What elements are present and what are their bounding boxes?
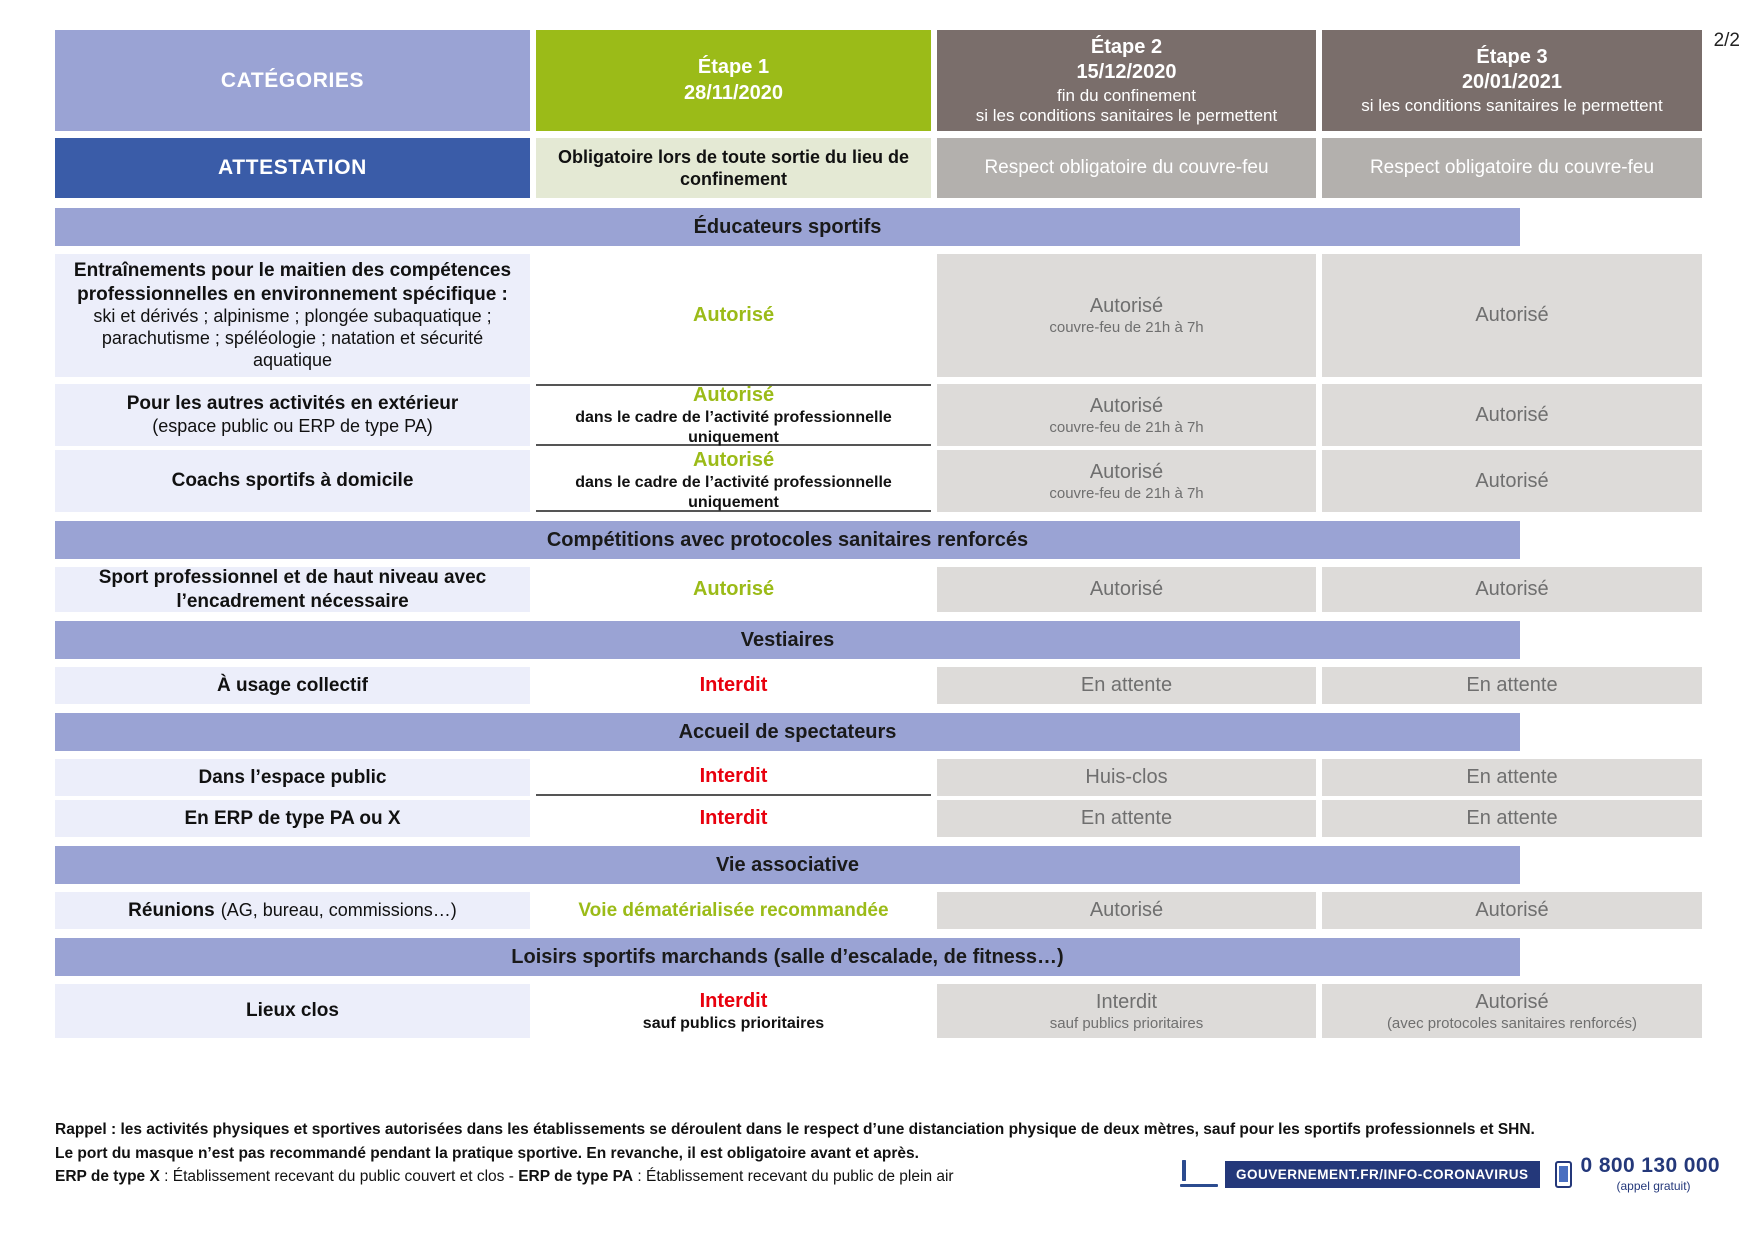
attestation-step-1: Obligatoire lors de toute sortie du lieu… (536, 138, 931, 198)
gov-website-link[interactable]: GOUVERNEMENT.FR/INFO-CORONAVIRUS (1225, 1161, 1540, 1188)
cell-step1-value: Autorisé (693, 303, 774, 328)
cell-step2: Interdit sauf publics prioritaires (937, 984, 1316, 1038)
row-label: Lieux clos (55, 984, 530, 1038)
laptop-icon (1182, 1162, 1216, 1187)
section-title-vestiaires: Vestiaires (55, 621, 1520, 659)
table-row: Dans l’espace public Interdit Huis-clos … (55, 759, 1520, 796)
step1-name: Étape 1 (698, 55, 769, 81)
row-label-norm: (AG, bureau, commissions…) (221, 900, 457, 922)
cell-step3-value: En attente (1466, 765, 1557, 790)
row-label: Sport professionnel et de haut niveau av… (55, 567, 530, 612)
cell-step3-value: Autorisé (1475, 990, 1548, 1015)
attestation-row: ATTESTATION Obligatoire lors de toute so… (55, 138, 1520, 198)
cell-step2-value: En attente (1081, 673, 1172, 698)
step3-note1: si les conditions sanitaires le permette… (1361, 96, 1662, 116)
row-label-bold: Réunions (128, 899, 215, 922)
hotline: 0 800 130 000 (appel gratuit) (1581, 1155, 1721, 1193)
row-label: Entraînements pour le maitien des compét… (55, 254, 530, 377)
cell-step2-sub: couvre-feu de 21h à 7h (1049, 319, 1203, 337)
header-categories: CATÉGORIES (55, 30, 530, 131)
cell-step1: Autorisé (536, 567, 931, 612)
cell-step3: En attente (1322, 667, 1702, 704)
row-label: Pour les autres activités en extérieur (… (55, 384, 530, 446)
cell-step3-value: Autorisé (1475, 469, 1548, 494)
cell-step1-sub: sauf publics prioritaires (643, 1014, 824, 1034)
cell-step3: Autorisé (1322, 254, 1702, 377)
cell-step2-value: Huis-clos (1085, 765, 1167, 790)
smartphone-icon (1555, 1161, 1572, 1188)
cell-step1-value: Interdit (700, 806, 768, 831)
row-label-bold: Dans l’espace public (199, 766, 387, 789)
cell-step1-value: Interdit (700, 989, 768, 1014)
rules-table: CATÉGORIES Étape 1 28/11/2020 Étape 2 15… (55, 30, 1520, 1038)
cell-step1-sub: dans le cadre de l’activité professionne… (542, 473, 925, 512)
cell-step3-value: Autorisé (1475, 303, 1548, 328)
row-label-bold: Lieux clos (246, 999, 339, 1022)
cell-step1-value: Autorisé (693, 577, 774, 602)
footer-erp-x-term: ERP de type X (55, 1168, 160, 1185)
table-row: À usage collectif Interdit En attente En… (55, 667, 1520, 704)
cell-step1: Interdit (536, 800, 931, 837)
footer-erp-x-def: : Établissement recevant du public couve… (160, 1168, 518, 1185)
header-step-2: Étape 2 15/12/2020 fin du confinement si… (937, 30, 1316, 131)
step2-note1: fin du confinement (1057, 86, 1196, 106)
cell-step2: En attente (937, 667, 1316, 704)
table-row: Lieux clos Interdit sauf publics priorit… (55, 984, 1520, 1038)
cell-step1-value: Interdit (700, 673, 768, 698)
cell-step2-sub: couvre-feu de 21h à 7h (1049, 485, 1203, 503)
step1-date: 28/11/2020 (684, 81, 783, 107)
hotline-note: (appel gratuit) (1617, 1179, 1691, 1193)
cell-step1: Autorisé dans le cadre de l’activité pro… (536, 384, 931, 446)
hotline-number: 0 800 130 000 (1581, 1155, 1721, 1176)
cell-step2: Autorisé couvre-feu de 21h à 7h (937, 384, 1316, 446)
cell-step2-sub: sauf publics prioritaires (1050, 1015, 1203, 1033)
table-row: Coachs sportifs à domicile Autorisé dans… (55, 450, 1520, 512)
section-title-vie-associative: Vie associative (55, 846, 1520, 884)
infographic-page: 2/2 CATÉGORIES Étape 1 28/11/2020 Étape … (0, 0, 1754, 1240)
row-label-bold: En ERP de type PA ou X (184, 807, 400, 830)
cell-step3-value: En attente (1466, 806, 1557, 831)
cell-step1-sub: dans le cadre de l’activité professionne… (542, 408, 925, 447)
header-step-1: Étape 1 28/11/2020 (536, 30, 931, 131)
row-label: Dans l’espace public (55, 759, 530, 796)
cell-step3: Autorisé (1322, 892, 1702, 929)
cell-step1: Interdit sauf publics prioritaires (536, 984, 931, 1038)
table-row: Réunions (AG, bureau, commissions…) Voie… (55, 892, 1520, 929)
cell-step3: En attente (1322, 759, 1702, 796)
step3-date: 20/01/2021 (1462, 70, 1562, 96)
footer-erp-pa-def: : Établissement recevant du public de pl… (633, 1168, 954, 1185)
step2-date: 15/12/2020 (1076, 60, 1176, 86)
row-spacer (55, 377, 1520, 384)
footer-erp-pa-term: ERP de type PA (518, 1168, 633, 1185)
cell-step3: Autorisé (1322, 450, 1702, 512)
cell-step3: En attente (1322, 800, 1702, 837)
row-label: Coachs sportifs à domicile (55, 450, 530, 512)
cell-step1: Autorisé (536, 254, 931, 377)
row-label-norm: ski et dérivés ; alpinisme ; plongée sub… (65, 306, 520, 372)
cell-step3-value: En attente (1466, 673, 1557, 698)
attestation-step-3: Respect obligatoire du couvre-feu (1322, 138, 1702, 198)
row-label: Réunions (AG, bureau, commissions…) (55, 892, 530, 929)
row-label-norm: (espace public ou ERP de type PA) (152, 416, 433, 438)
cell-step1-value: Interdit (700, 764, 768, 789)
cell-step2-value: Autorisé (1090, 577, 1163, 602)
cell-step2: En attente (937, 800, 1316, 837)
section-title-competitions: Compétitions avec protocoles sanitaires … (55, 521, 1520, 559)
cell-step2-sub: couvre-feu de 21h à 7h (1049, 419, 1203, 437)
cell-step2-value: Autorisé (1090, 898, 1163, 923)
cell-step3-value: Autorisé (1475, 403, 1548, 428)
cell-step1: Voie dématérialisée recommandée (536, 892, 931, 929)
cell-step2: Autorisé couvre-feu de 21h à 7h (937, 254, 1316, 377)
page-number: 2/2 (1714, 30, 1740, 52)
step2-name: Étape 2 (1091, 35, 1162, 61)
row-label-bold: Pour les autres activités en extérieur (127, 392, 459, 415)
footer-line-1: Rappel : les activités physiques et spor… (55, 1118, 1705, 1142)
step2-note2: si les conditions sanitaires le permette… (976, 106, 1277, 126)
table-header-row: CATÉGORIES Étape 1 28/11/2020 Étape 2 15… (55, 30, 1520, 131)
cell-step3: Autorisé (1322, 567, 1702, 612)
row-label-bold: Entraînements pour le maitien des compét… (65, 259, 520, 305)
section-title-loisirs: Loisirs sportifs marchands (salle d’esca… (55, 938, 1520, 976)
cell-step1-value: Voie dématérialisée recommandée (578, 899, 888, 923)
cell-step1: Autorisé dans le cadre de l’activité pro… (536, 450, 931, 512)
table-row: En ERP de type PA ou X Interdit En atten… (55, 800, 1520, 837)
cell-step2: Huis-clos (937, 759, 1316, 796)
cell-step2-value: En attente (1081, 806, 1172, 831)
cell-step3: Autorisé (1322, 384, 1702, 446)
step3-name: Étape 3 (1476, 45, 1547, 71)
table-row: Sport professionnel et de haut niveau av… (55, 567, 1520, 612)
cell-step2: Autorisé (937, 567, 1316, 612)
cell-step1-value: Autorisé (693, 383, 774, 408)
section-title-spectateurs: Accueil de spectateurs (55, 713, 1520, 751)
cell-step2-value: Autorisé (1090, 294, 1163, 319)
row-label-bold: Sport professionnel et de haut niveau av… (65, 566, 520, 612)
cell-step3-value: Autorisé (1475, 898, 1548, 923)
attestation-step-2: Respect obligatoire du couvre-feu (937, 138, 1316, 198)
row-label-bold: Coachs sportifs à domicile (172, 469, 414, 492)
row-label: En ERP de type PA ou X (55, 800, 530, 837)
cell-step2: Autorisé couvre-feu de 21h à 7h (937, 450, 1316, 512)
cell-step2-value: Interdit (1096, 990, 1157, 1015)
cell-step2-value: Autorisé (1090, 460, 1163, 485)
cell-step2: Autorisé (937, 892, 1316, 929)
cell-step3-value: Autorisé (1475, 577, 1548, 602)
table-row: Pour les autres activités en extérieur (… (55, 384, 1520, 446)
government-contact-block: GOUVERNEMENT.FR/INFO-CORONAVIRUS 0 800 1… (1182, 1155, 1720, 1193)
section-title-educateurs: Éducateurs sportifs (55, 208, 1520, 246)
row-label: À usage collectif (55, 667, 530, 704)
cell-step1: Interdit (536, 667, 931, 704)
cell-step1-value: Autorisé (693, 448, 774, 473)
cell-step3: Autorisé (avec protocoles sanitaires ren… (1322, 984, 1702, 1038)
cell-step3-sub: (avec protocoles sanitaires renforcés) (1387, 1015, 1637, 1033)
attestation-label: ATTESTATION (55, 138, 530, 198)
cell-step1: Interdit (536, 759, 931, 796)
cell-step2-value: Autorisé (1090, 394, 1163, 419)
table-row: Entraînements pour le maitien des compét… (55, 254, 1520, 377)
row-label-bold: À usage collectif (217, 674, 368, 697)
header-step-3: Étape 3 20/01/2021 si les conditions san… (1322, 30, 1702, 131)
